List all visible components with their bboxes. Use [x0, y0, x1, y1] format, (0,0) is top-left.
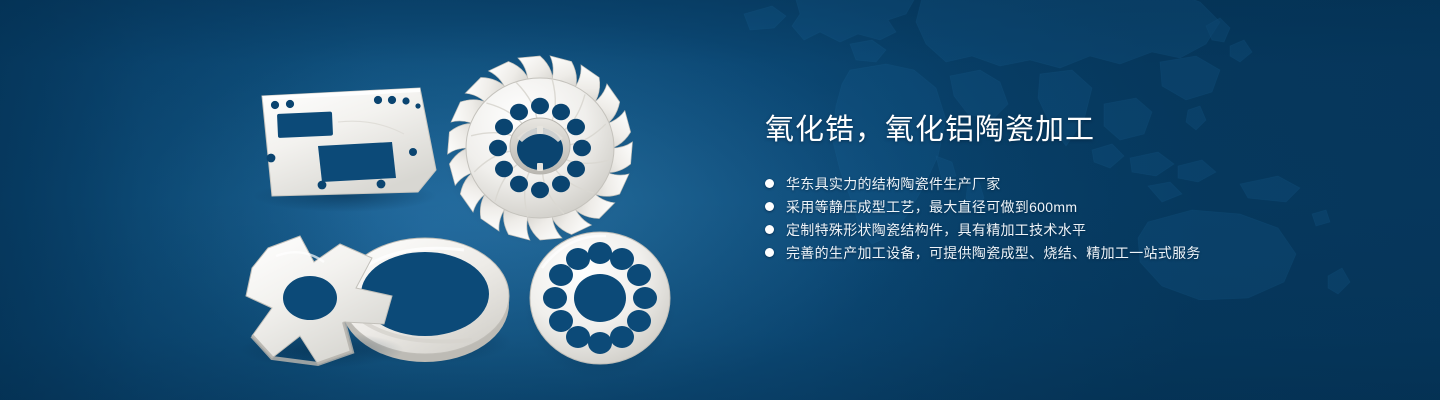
list-item: 采用等静压成型工艺，最大直径可做到600mm	[765, 195, 1385, 218]
list-item: 定制特殊形状陶瓷结构件，具有精加工技术水平	[765, 218, 1385, 241]
list-item-label: 定制特殊形状陶瓷结构件，具有精加工技术水平	[786, 220, 1086, 240]
bullet-dot-icon	[765, 248, 774, 257]
promo-banner: 氧化锆，氧化铝陶瓷加工 华东具实力的结构陶瓷件生产厂家 采用等静压成型工艺，最大…	[0, 0, 1440, 400]
list-item: 完善的生产加工设备，可提供陶瓷成型、烧结、精加工一站式服务	[765, 241, 1385, 264]
list-item-label: 完善的生产加工设备，可提供陶瓷成型、烧结、精加工一站式服务	[786, 243, 1201, 263]
list-item: 华东具实力的结构陶瓷件生产厂家	[765, 172, 1385, 195]
feature-list: 华东具实力的结构陶瓷件生产厂家 采用等静压成型工艺，最大直径可做到600mm 定…	[765, 172, 1385, 264]
list-item-label: 华东具实力的结构陶瓷件生产厂家	[786, 174, 1001, 194]
list-item-label: 采用等静压成型工艺，最大直径可做到600mm	[786, 197, 1077, 217]
ceramic-plate-part	[253, 88, 437, 212]
bullet-dot-icon	[765, 202, 774, 211]
ceramic-impeller-part	[444, 54, 636, 246]
bullet-dot-icon	[765, 179, 774, 188]
banner-copy: 氧化锆，氧化铝陶瓷加工 华东具实力的结构陶瓷件生产厂家 采用等静压成型工艺，最大…	[765, 112, 1385, 264]
ceramic-products-image	[0, 0, 720, 400]
page-title: 氧化锆，氧化铝陶瓷加工	[765, 112, 1385, 148]
bullet-dot-icon	[765, 225, 774, 234]
ceramic-hole-disc-part	[524, 232, 676, 378]
